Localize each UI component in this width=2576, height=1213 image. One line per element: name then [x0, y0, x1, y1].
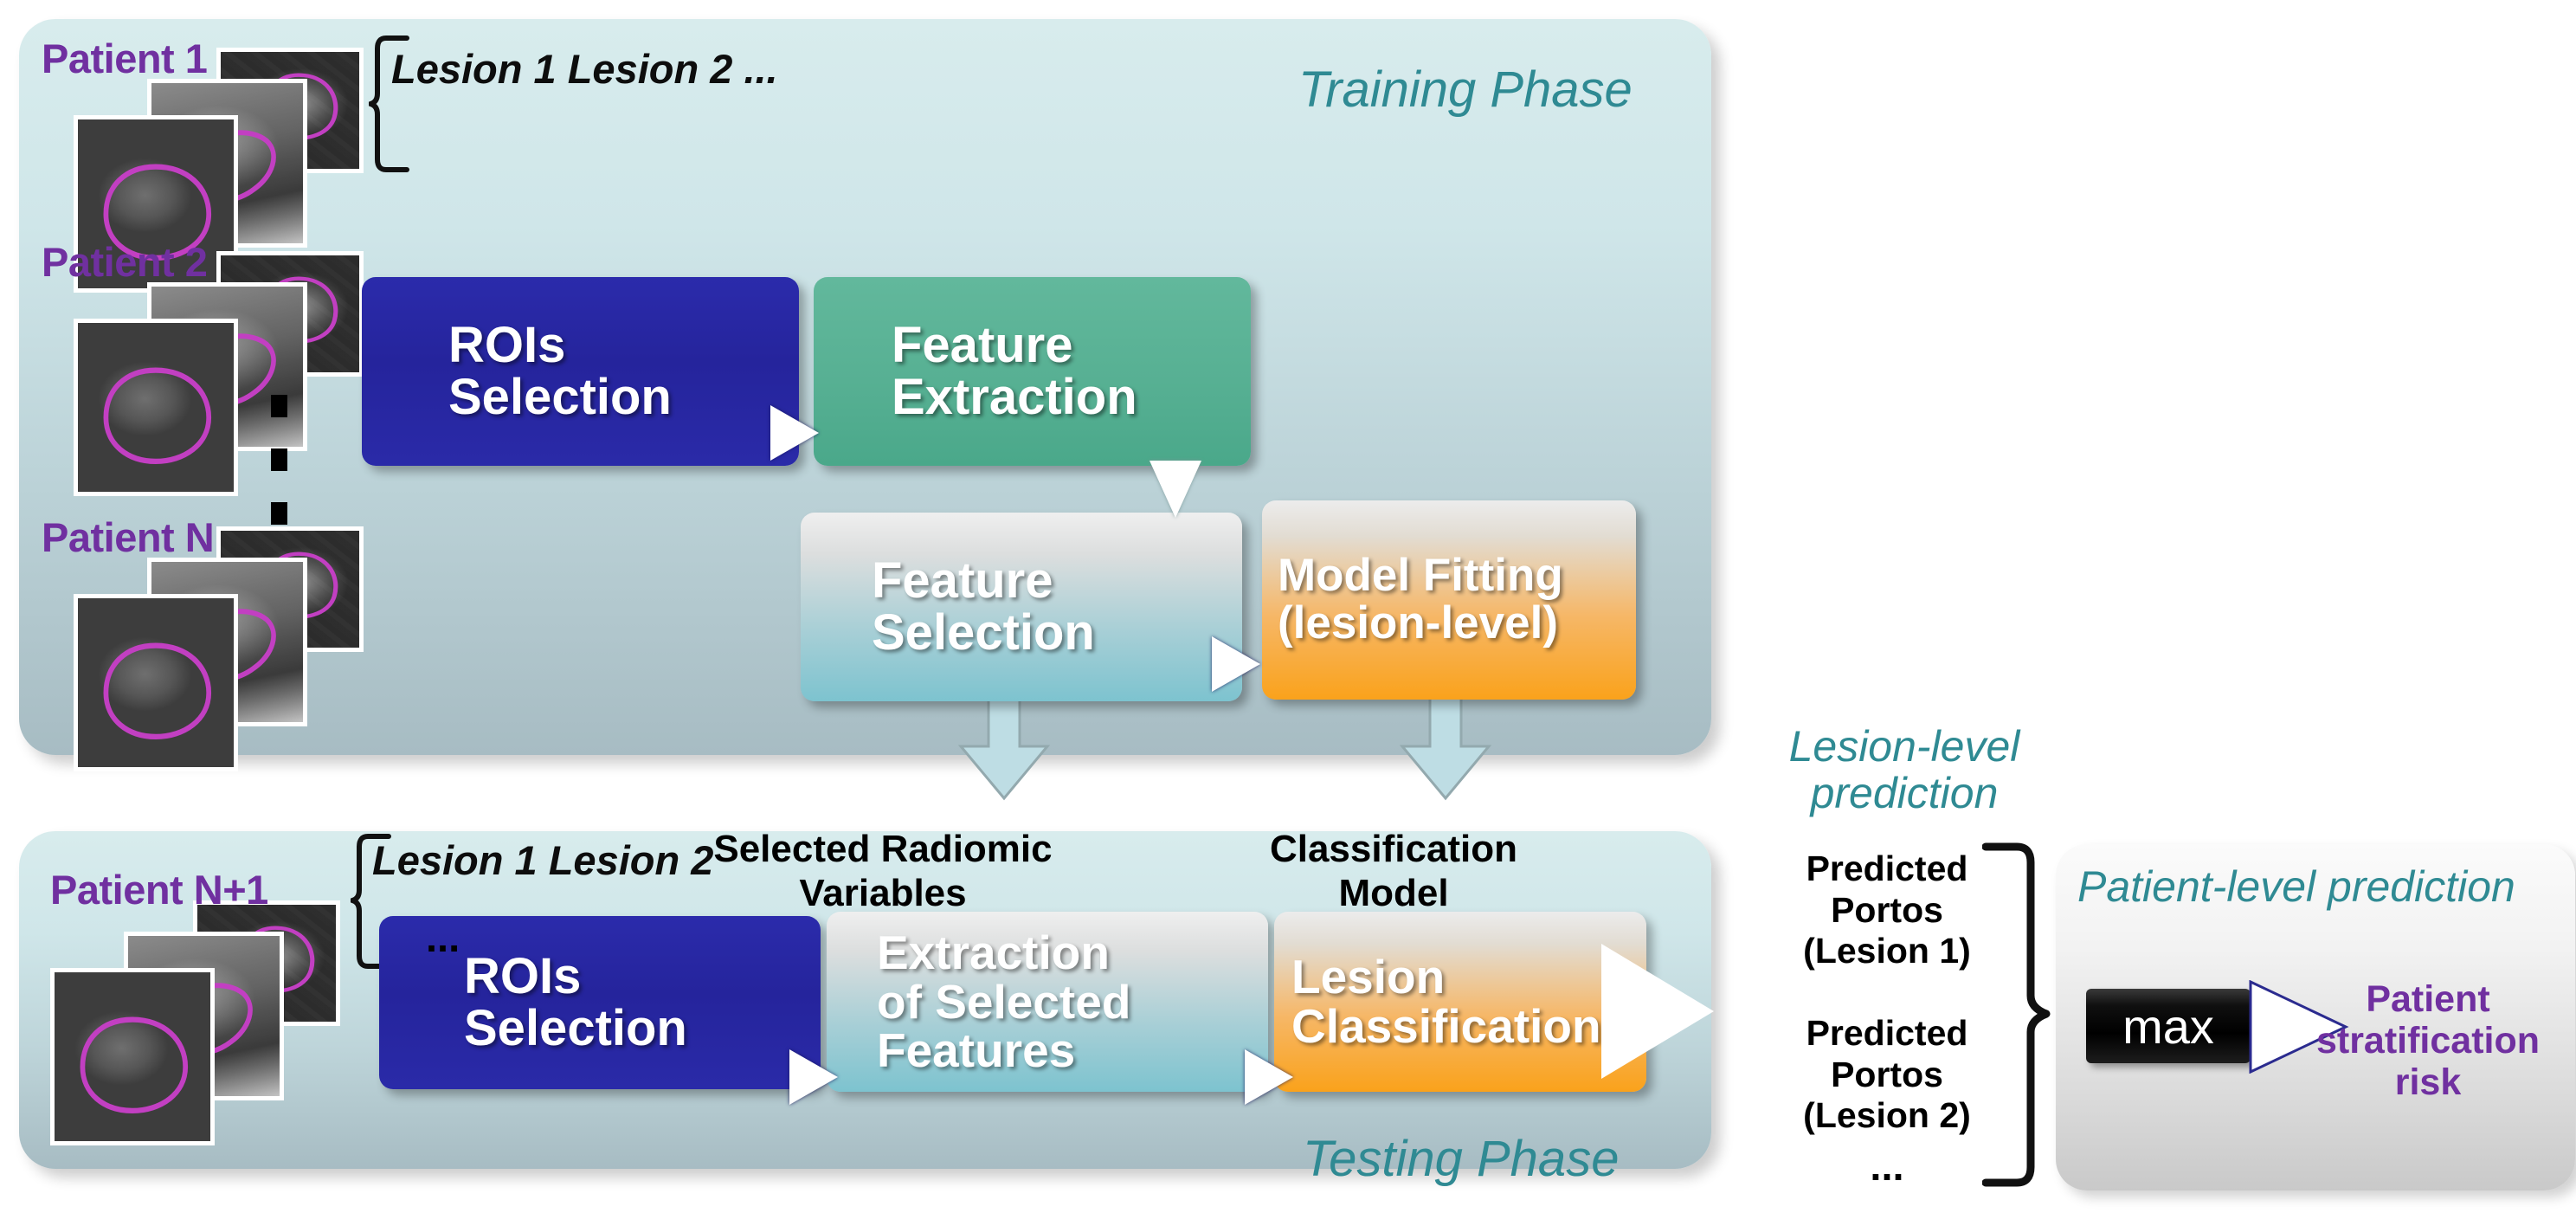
patient-label-1: Patient 1 — [42, 35, 207, 82]
lesion-list-training: Lesion 1 Lesion 2 ... — [391, 45, 778, 93]
rois-selection-box-training[interactable]: ROIs Selection — [362, 277, 799, 466]
feature-extraction-box[interactable]: Feature Extraction — [814, 277, 1251, 466]
arrow-rois-to-extraction-testing-icon — [789, 1049, 838, 1105]
selected-variables-label: Selected Radiomic Variables — [692, 827, 1073, 915]
mri-slice-axial — [74, 594, 238, 771]
patient-label-2: Patient 2 — [42, 238, 207, 286]
predictions-brace — [1982, 842, 2051, 1188]
lesion-classification-box[interactable]: Lesion Classification — [1274, 912, 1646, 1092]
training-phase-label: Training Phase — [1298, 61, 1633, 119]
max-operator-box[interactable]: max — [2086, 989, 2251, 1063]
output-arrow-icon — [1601, 944, 1723, 1082]
patient-label-n: Patient N — [42, 513, 214, 561]
arrow-rois-to-extraction-icon — [770, 405, 819, 461]
patient-level-prediction-label: Patient-level prediction — [2077, 861, 2515, 912]
classification-model-label: Classification Model — [1203, 827, 1584, 915]
arrow-extraction-to-selection-icon — [1150, 461, 1201, 518]
feature-selection-box[interactable]: Feature Selection — [801, 513, 1242, 701]
patient-stratification-risk-label: Patient stratification risk — [2307, 978, 2549, 1103]
vertical-dot — [271, 448, 287, 471]
vertical-dot — [271, 502, 287, 525]
arrow-selection-to-fitting-icon — [1212, 636, 1260, 692]
lesion-list-testing: Lesion 1 Lesion 2 — [372, 836, 713, 884]
vertical-dot — [271, 395, 287, 417]
extraction-selected-features-box[interactable]: Extraction of Selected Features — [827, 912, 1268, 1092]
lesion-level-prediction-label: Lesion-level prediction — [1761, 723, 2047, 816]
mri-slice-axial — [50, 968, 215, 1145]
patient-label-n-plus-1: Patient N+1 — [50, 866, 268, 913]
arrow-extraction-to-classification-icon — [1245, 1049, 1293, 1105]
lesion-ellipsis-testing: ... — [426, 913, 460, 961]
down-arrow-model-icon — [1394, 693, 1497, 801]
model-fitting-box[interactable]: Model Fitting (lesion-level) — [1262, 500, 1636, 700]
mri-stack-patient-n-plus-1 — [50, 900, 345, 1100]
testing-phase-label: Testing Phase — [1303, 1130, 1619, 1188]
mri-slice-axial — [74, 319, 238, 496]
down-arrow-variables-icon — [952, 693, 1056, 801]
